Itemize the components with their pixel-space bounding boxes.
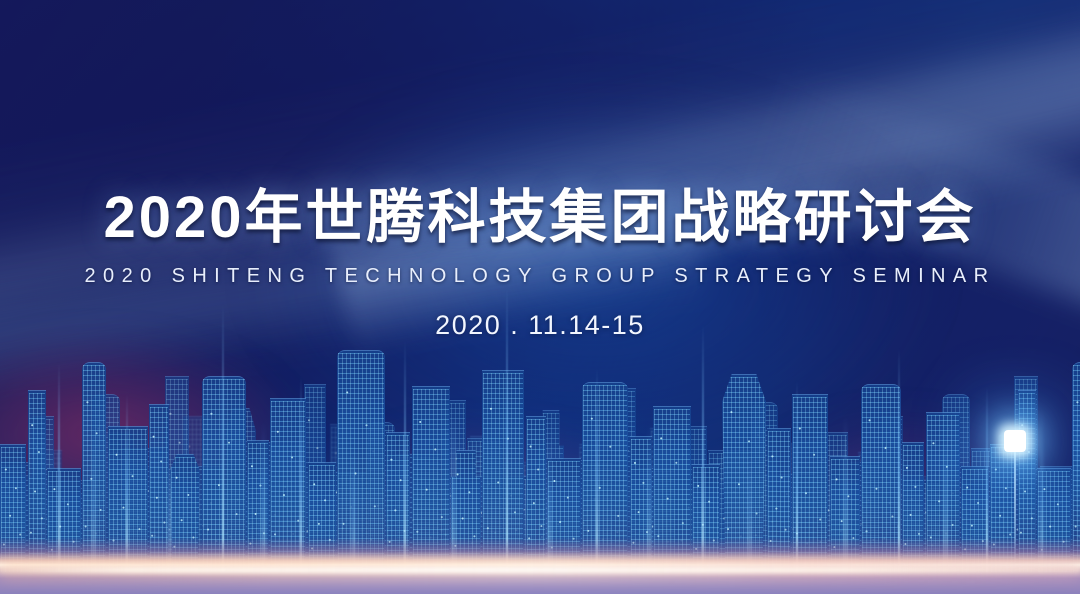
vertical-light-beam <box>222 304 224 572</box>
banner-subtitle: 2020 SHITENG TECHNOLOGY GROUP STRATEGY S… <box>0 265 1080 288</box>
vertical-light-beam <box>702 324 704 572</box>
banner-title: 2020年世腾科技集团战略研讨会 <box>0 188 1080 249</box>
horizon-light-streak <box>0 567 1080 573</box>
lamp-bulb-glow <box>1004 430 1026 452</box>
event-banner: 2020年世腾科技集团战略研讨会 2020 SHITENG TECHNOLOGY… <box>0 0 1080 594</box>
digital-city-skyline <box>0 312 1080 572</box>
banner-date: 2020 . 11.14-15 <box>0 310 1080 341</box>
skyline-layer-near <box>0 322 1080 572</box>
banner-text-block: 2020年世腾科技集团战略研讨会 2020 SHITENG TECHNOLOGY… <box>0 0 1080 341</box>
